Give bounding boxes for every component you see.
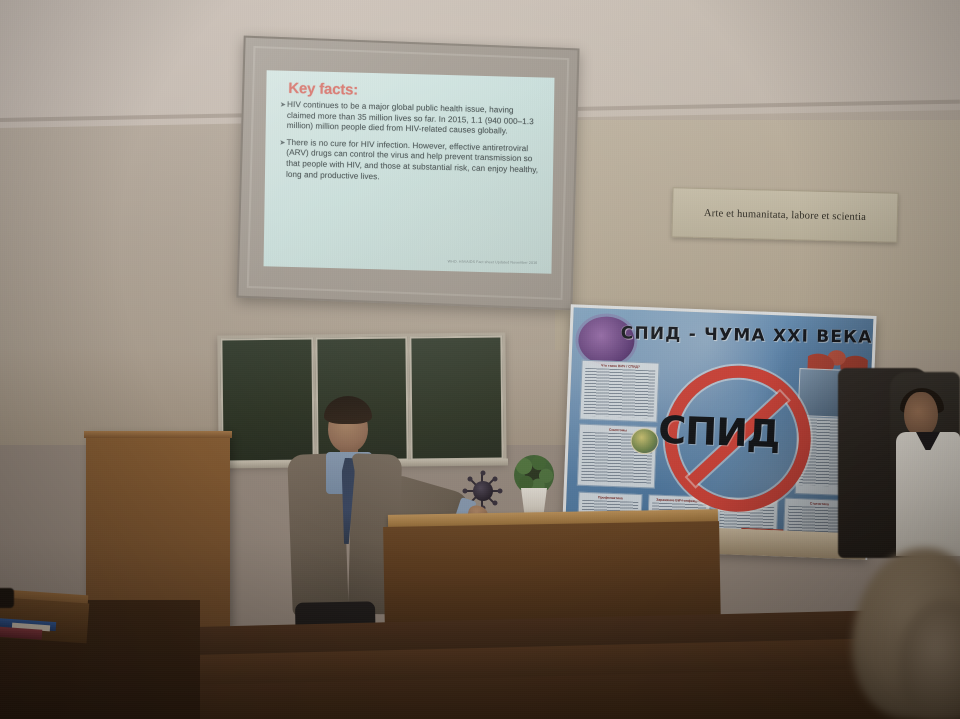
slide-bullet-2-text: There is no cure for HIV infection. Howe…	[286, 138, 538, 181]
bullet-arrow-icon: ➤	[279, 138, 285, 149]
presenter-hair	[324, 396, 372, 424]
slide-body: ➤HIV continues to be a major global publ…	[279, 100, 542, 187]
bullet-arrow-icon: ➤	[280, 101, 286, 112]
slide-bullet-1: ➤HIV continues to be a major global publ…	[280, 100, 542, 139]
student-lab-coat	[896, 432, 960, 556]
slide-credit: WHO. HIV/AIDS Fact sheet Updated Novembe…	[448, 260, 538, 265]
virus-knob	[498, 489, 503, 494]
slide-bullet-2: ➤There is no cure for HIV infection. How…	[279, 137, 542, 186]
projection-screen: Key facts: ➤HIV continues to be a major …	[236, 36, 579, 311]
wall-plaque-text: Arte et humanitata, labore et scientia	[704, 208, 866, 223]
lecture-hall-photo: Key facts: ➤HIV continues to be a major …	[0, 0, 960, 719]
virus-knob	[493, 501, 498, 506]
virus-knob	[493, 477, 498, 482]
bag-dark	[0, 588, 14, 608]
student-head	[904, 392, 938, 436]
potted-plant	[512, 455, 556, 517]
slide-bullet-1-text: HIV continues to be a major global publi…	[287, 100, 534, 136]
lectern-top-edge	[84, 431, 232, 438]
presentation-slide: Key facts: ➤HIV continues to be a major …	[264, 70, 555, 274]
wall-plaque: Arte et humanitata, labore et scientia	[671, 187, 898, 243]
poster-center-word: СПИД	[658, 408, 781, 457]
student-in-lab-coat	[896, 392, 960, 572]
